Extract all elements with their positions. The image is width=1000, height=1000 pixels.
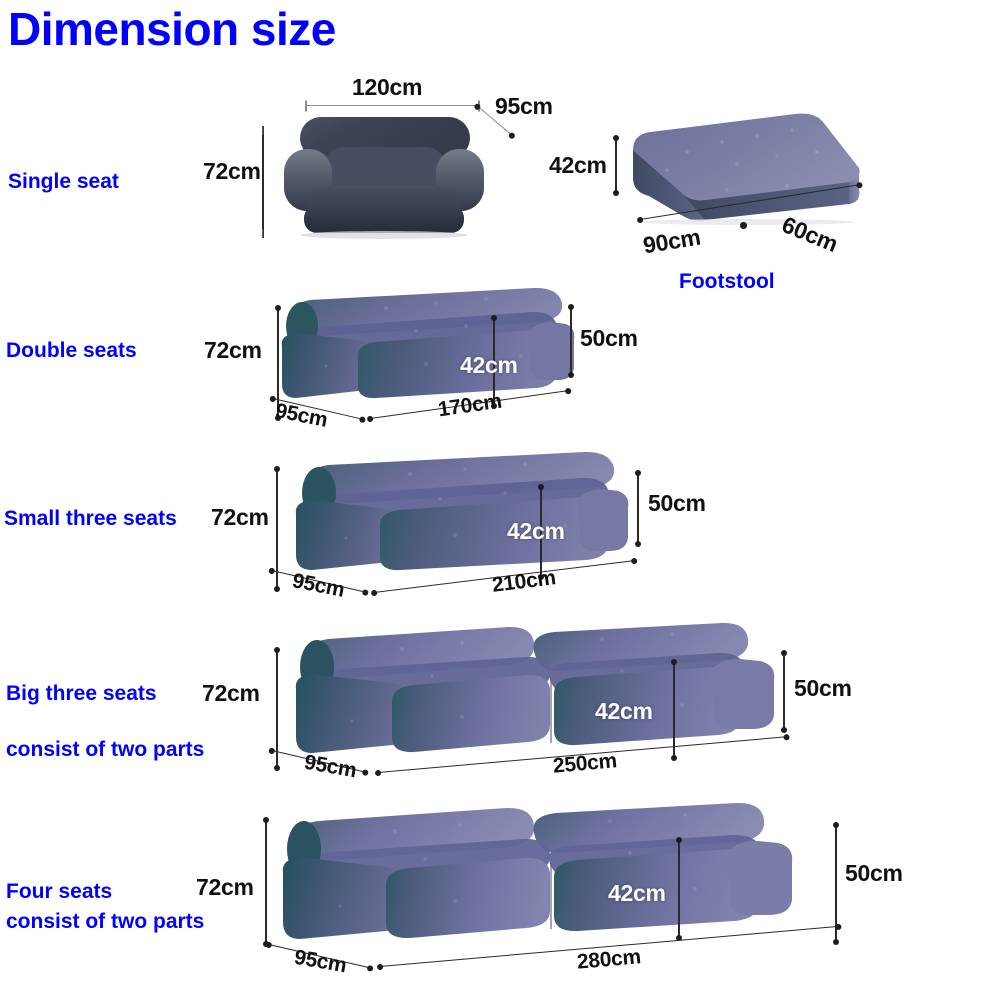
rule-small3-backheight bbox=[637, 473, 639, 544]
rule-footstool-height bbox=[615, 138, 617, 193]
footstool-icon bbox=[627, 112, 865, 225]
rule-big3-backheight bbox=[783, 653, 785, 730]
row-label-double-seats: Double seats bbox=[6, 337, 137, 365]
dim-big3-width: 250cm bbox=[552, 749, 618, 778]
sofa-icon-small-three-seats bbox=[280, 450, 630, 582]
dim-footstool-height: 42cm bbox=[549, 152, 607, 179]
dim-big3-height: 72cm bbox=[202, 680, 260, 707]
page-title: Dimension size bbox=[8, 2, 336, 56]
dim-four-seatheight: 42cm bbox=[608, 880, 666, 907]
sofa-icon-double-seats bbox=[266, 286, 576, 408]
dimension-chart: Dimension size Single seat 72cm 120cm 95… bbox=[0, 0, 1000, 1000]
dim-small3-seatheight: 42cm bbox=[507, 518, 565, 545]
dim-double-backheight: 50cm bbox=[580, 325, 638, 352]
dim-small3-height: 72cm bbox=[211, 504, 269, 531]
rule-double-backheight bbox=[570, 307, 572, 375]
dim-footstool-width: 90cm bbox=[641, 224, 702, 260]
rule-four-seatheight bbox=[678, 840, 680, 938]
row-label-big-three-seats: Big three seats bbox=[6, 680, 157, 708]
rule-single-width bbox=[305, 105, 480, 106]
dim-double-height: 72cm bbox=[204, 337, 262, 364]
row-label-footstool: Footstool bbox=[679, 268, 775, 296]
dim-big3-backheight: 50cm bbox=[794, 675, 852, 702]
row-label-four-seats-2: consist of two parts bbox=[6, 908, 204, 936]
dim-single-height: 72cm bbox=[203, 158, 261, 185]
rule-single-height bbox=[262, 126, 264, 238]
dim-four-backheight: 50cm bbox=[845, 860, 903, 887]
dim-double-seatheight: 42cm bbox=[460, 352, 518, 379]
dim-single-width: 120cm bbox=[352, 74, 422, 101]
dim-small3-backheight: 50cm bbox=[648, 490, 706, 517]
rule-four-height bbox=[265, 820, 267, 944]
dim-big3-seatheight: 42cm bbox=[595, 698, 653, 725]
row-label-four-seats: Four seats bbox=[6, 878, 112, 906]
dim-single-depth: 95cm bbox=[495, 93, 553, 120]
row-label-big-three-seats-2: consist of two parts bbox=[6, 736, 204, 764]
dim-four-depth: 95cm bbox=[292, 946, 348, 979]
dim-four-height: 72cm bbox=[196, 874, 254, 901]
sofa-icon-four-seats bbox=[270, 801, 800, 949]
row-label-single-seat: Single seat bbox=[8, 168, 119, 196]
sofa-icon-single-seat bbox=[278, 113, 490, 240]
dot-footstool-mid bbox=[740, 222, 747, 229]
dim-four-width: 280cm bbox=[576, 945, 642, 974]
row-label-small-three-seats: Small three seats bbox=[4, 505, 177, 533]
rule-big3-seatheight bbox=[673, 662, 675, 758]
